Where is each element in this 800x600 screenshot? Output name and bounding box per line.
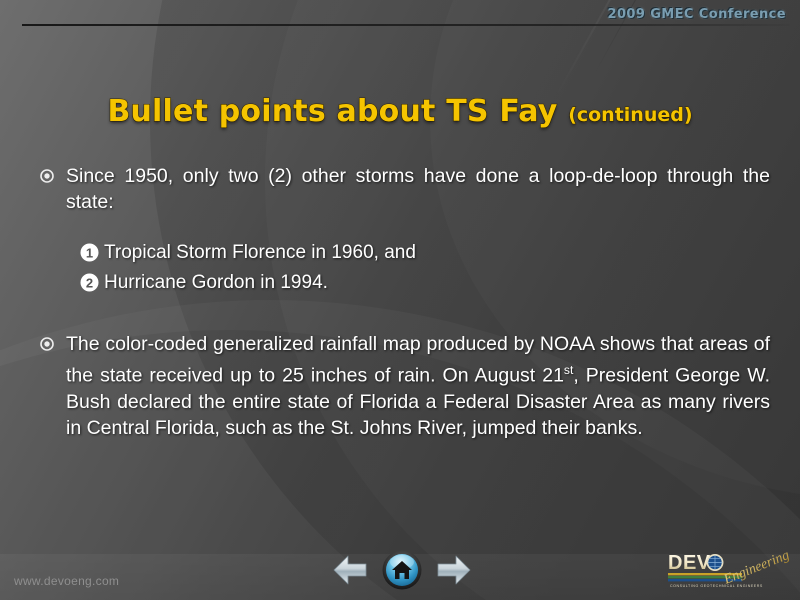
conference-label: 2009 GMEC Conference <box>608 7 786 22</box>
page-title: Bullet points about TS Fay (continued) <box>0 94 800 129</box>
header-divider-line <box>22 24 790 26</box>
numbered-item-1-text: Tropical Storm Florence in 1960, and <box>104 241 416 265</box>
ordinal-suffix: st <box>564 363 573 377</box>
logo-tagline-text: CONSULTING GEOTECHNICAL ENGINEERS <box>670 584 763 588</box>
previous-slide-arrow-icon[interactable] <box>332 553 368 587</box>
slide-canvas: 2009 GMEC Conference Bullet points about… <box>0 0 800 600</box>
numbered-item-2-text: Hurricane Gordon in 1994. <box>104 271 328 295</box>
ring-dot-bullet-icon <box>40 337 66 351</box>
svg-text:2: 2 <box>86 275 93 290</box>
devo-engineering-logo: DEV CONSULTING GEOTECHNICAL ENGINEERS En… <box>652 544 792 594</box>
ring-dot-bullet-icon <box>40 169 66 183</box>
bullet-item-2-text: The color-coded generalized rainfall map… <box>66 331 770 441</box>
next-slide-arrow-icon[interactable] <box>436 553 472 587</box>
bullet-item-2: The color-coded generalized rainfall map… <box>40 331 770 441</box>
bullet-item-1-text: Since 1950, only two (2) other storms ha… <box>66 163 770 215</box>
background-streak-light <box>554 0 614 99</box>
svg-text:1: 1 <box>86 245 93 260</box>
logo-script-text: Engineering <box>721 548 792 588</box>
bullet-item-1: Since 1950, only two (2) other storms ha… <box>40 163 770 215</box>
page-title-main: Bullet points about TS Fay <box>107 94 557 129</box>
numbered-circle-1-icon: 1 <box>80 243 104 262</box>
page-title-continued: (continued) <box>568 104 692 126</box>
list-item: 1 Tropical Storm Florence in 1960, and <box>80 241 770 265</box>
site-url-label: www.devoeng.com <box>14 574 119 588</box>
list-item: 2 Hurricane Gordon in 1994. <box>80 271 770 295</box>
numbered-circle-2-icon: 2 <box>80 273 104 292</box>
logo-brand-text: DEV <box>668 552 711 574</box>
slide-body: Since 1950, only two (2) other storms ha… <box>40 163 770 441</box>
home-button-icon[interactable] <box>382 550 422 590</box>
slide-navigation <box>332 548 472 592</box>
numbered-sublist: 1 Tropical Storm Florence in 1960, and 2… <box>80 241 770 295</box>
